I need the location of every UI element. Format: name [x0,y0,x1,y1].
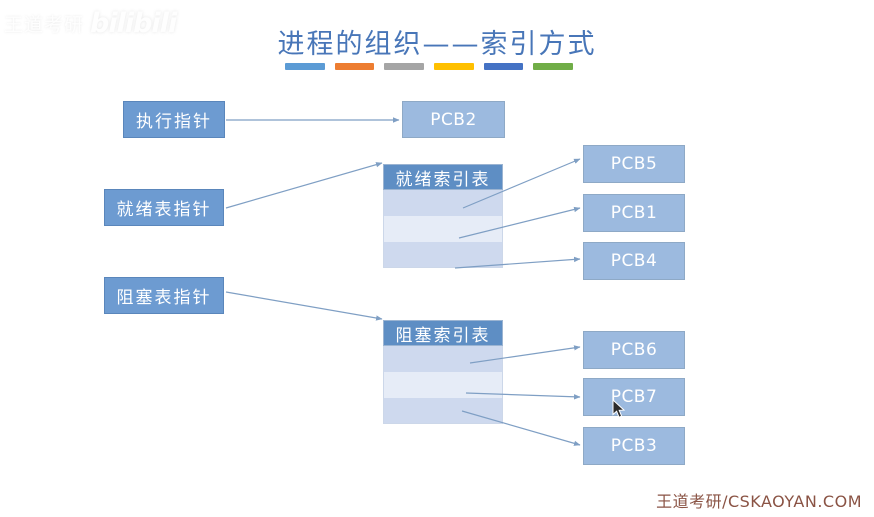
title-bar-6 [533,63,573,70]
ready-list-pointer-box: 就绪表指针 [104,189,224,226]
pcb-box-blocked-2: PCB7 [583,378,685,416]
exec-pointer-box: 执行指针 [123,101,225,138]
pcb-box-ready-3: PCB4 [583,242,685,280]
title-bar-1 [285,63,325,70]
presentation-slide: 王道考研 bilibili 进程的组织——索引方式 执行指针 就绪表指针 阻塞表… [0,0,874,517]
pcb-label-blocked-3: PCB3 [611,436,658,456]
blocked-list-pointer-label: 阻塞表指针 [117,283,212,308]
pcb-label-blocked-1: PCB6 [611,340,658,360]
blocked-list-pointer-box: 阻塞表指针 [104,277,224,314]
blocked-index-table-header: 阻塞索引表 [383,320,503,346]
pcb-box-blocked-1: PCB6 [583,331,685,369]
ready-index-row-3 [383,242,503,268]
ready-list-pointer-label: 就绪表指针 [117,195,212,220]
pcb-box-ready-2: PCB1 [583,194,685,232]
pcb-label-ready-1: PCB5 [611,154,658,174]
pcb-box-blocked-3: PCB3 [583,427,685,465]
title-bar-5 [484,63,524,70]
exec-pointer-label: 执行指针 [136,107,212,132]
pcb-box-running: PCB2 [402,101,505,138]
ready-index-table-header: 就绪索引表 [383,164,503,190]
title-bar-2 [335,63,375,70]
ready-index-table: 就绪索引表 [383,164,503,268]
pcb-label-blocked-2: PCB7 [611,387,658,407]
title-bar-4 [434,63,474,70]
blocked-index-row-3 [383,398,503,424]
pcb-box-ready-1: PCB5 [583,145,685,183]
blocked-index-row-2 [383,372,503,398]
pcb-label-ready-2: PCB1 [611,203,658,223]
blocked-index-row-1 [383,346,503,372]
arrow-blocked-pointer-to-table [226,292,382,319]
ready-index-row-1 [383,190,503,216]
arrow-ready-pointer-to-table [226,163,382,208]
slide-title: 进程的组织——索引方式 [0,22,874,61]
title-underline-bars [285,63,573,70]
footer-watermark-text: 王道考研/CSKAOYAN.COM [656,488,862,512]
pcb-label-ready-3: PCB4 [611,251,658,271]
pcb-label-running: PCB2 [430,110,477,130]
ready-index-row-2 [383,216,503,242]
blocked-index-table: 阻塞索引表 [383,320,503,424]
title-bar-3 [384,63,424,70]
